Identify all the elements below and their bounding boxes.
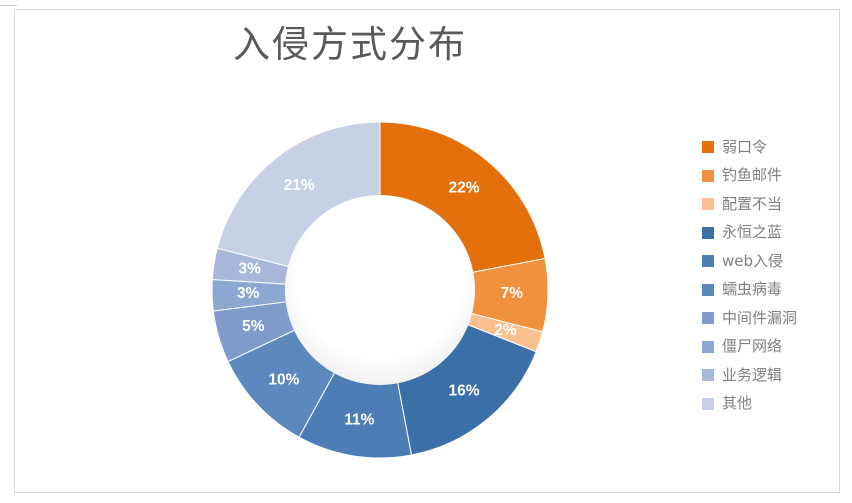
donut-hole	[285, 195, 475, 385]
legend-item[interactable]: 蠕虫病毒	[702, 276, 832, 305]
legend-item-label: 中间件漏洞	[722, 311, 797, 326]
chart-title: 入侵方式分布	[0, 14, 700, 68]
legend-item-label: 配置不当	[722, 197, 782, 212]
donut-chart-plot-area: 22%7%2%16%11%10%5%3%3%21%	[160, 100, 600, 480]
slice-value-label: 3%	[239, 260, 262, 277]
slice-value-label: 16%	[449, 383, 480, 400]
slice-value-label: 22%	[449, 179, 480, 196]
legend-item[interactable]: 其他	[702, 390, 832, 419]
legend-item[interactable]: 永恒之蓝	[702, 219, 832, 248]
legend-item-label: 蠕虫病毒	[722, 282, 782, 297]
legend-item[interactable]: 钓鱼邮件	[702, 162, 832, 191]
legend-swatch-icon	[702, 398, 714, 410]
legend-item-label: 钓鱼邮件	[722, 168, 782, 183]
donut-chart-svg: 22%7%2%16%11%10%5%3%3%21%	[160, 100, 600, 480]
slice-value-label: 21%	[284, 177, 315, 194]
slice-value-label: 7%	[501, 285, 524, 302]
legend-swatch-icon	[702, 198, 714, 210]
legend-swatch-icon	[702, 255, 714, 267]
legend-swatch-icon	[702, 141, 714, 153]
legend-item[interactable]: web入侵	[702, 247, 832, 276]
legend-swatch-icon	[702, 341, 714, 353]
legend-item[interactable]: 中间件漏洞	[702, 304, 832, 333]
legend-item-label: 业务逻辑	[722, 368, 782, 383]
legend-swatch-icon	[702, 312, 714, 324]
legend-item[interactable]: 弱口令	[702, 133, 832, 162]
legend-swatch-icon	[702, 227, 714, 239]
legend-item[interactable]: 配置不当	[702, 190, 832, 219]
legend-item-label: 其他	[722, 396, 752, 411]
legend-swatch-icon	[702, 170, 714, 182]
legend-item-label: web入侵	[722, 254, 783, 269]
legend-item[interactable]: 业务逻辑	[702, 361, 832, 390]
legend-item-label: 弱口令	[722, 140, 767, 155]
legend-swatch-icon	[702, 369, 714, 381]
legend-item-label: 僵尸网络	[722, 339, 782, 354]
top-edge-marker	[0, 5, 17, 6]
slice-value-label: 11%	[344, 411, 374, 428]
legend-swatch-icon	[702, 284, 714, 296]
slice-value-label: 10%	[268, 371, 299, 388]
chart-window: 入侵方式分布 22%7%2%16%11%10%5%3%3%21% 弱口令钓鱼邮件…	[0, 0, 852, 503]
chart-legend: 弱口令钓鱼邮件配置不当永恒之蓝web入侵蠕虫病毒中间件漏洞僵尸网络业务逻辑其他	[702, 133, 832, 418]
slice-value-label: 3%	[237, 285, 260, 302]
legend-item-label: 永恒之蓝	[722, 225, 782, 240]
slice-value-label: 5%	[242, 318, 265, 335]
legend-item[interactable]: 僵尸网络	[702, 333, 832, 362]
slice-value-label: 2%	[494, 322, 517, 339]
